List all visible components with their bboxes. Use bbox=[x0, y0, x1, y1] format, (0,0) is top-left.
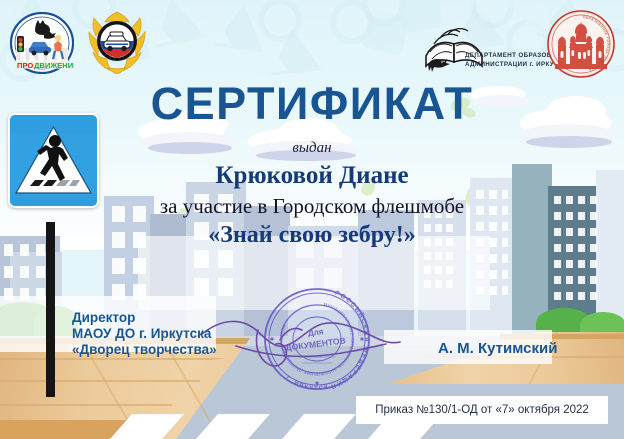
issued-label: выдан bbox=[0, 140, 624, 157]
recipient-name: Крюковой Диане bbox=[0, 162, 624, 190]
order-reference-text: Приказ №130/1-ОД от «7» октября 2022 bbox=[375, 404, 589, 416]
event-name: «Знай свою зебру!» bbox=[0, 222, 624, 249]
signatory-name: А. М. Кутимский bbox=[438, 340, 557, 357]
award-reason: за участие в Городском флешмобе bbox=[0, 194, 624, 219]
svg-text:ПРО: ПРО bbox=[17, 61, 33, 70]
handwritten-signature bbox=[196, 300, 406, 380]
signatory-position-line1: Директор bbox=[72, 310, 217, 326]
certificate-canvas: ПРО ДВИЖЕНИЕ bbox=[0, 0, 624, 439]
signatory-position-line3: «Дворец творчества» bbox=[72, 342, 217, 358]
signatory-position: Директор МАОУ ДО г. Иркутска «Дворец тво… bbox=[72, 310, 217, 358]
prodvizhenie-logo: ПРО ДВИЖЕНИЕ bbox=[10, 12, 74, 74]
signatory-position-line2: МАОУ ДО г. Иркутска bbox=[72, 326, 217, 342]
irkutsk-cathedral-emblem: ОБРАЗОВАНИЕ ГОРОДА ИРКУТСКА bbox=[547, 10, 615, 78]
order-reference-box: Приказ №130/1-ОД от «7» октября 2022 bbox=[356, 396, 608, 424]
svg-text:ДВИЖЕНИЕ: ДВИЖЕНИЕ bbox=[34, 61, 74, 70]
gibdd-emblem bbox=[86, 10, 148, 74]
page-title: СЕРТИФИКАТ bbox=[0, 78, 624, 130]
